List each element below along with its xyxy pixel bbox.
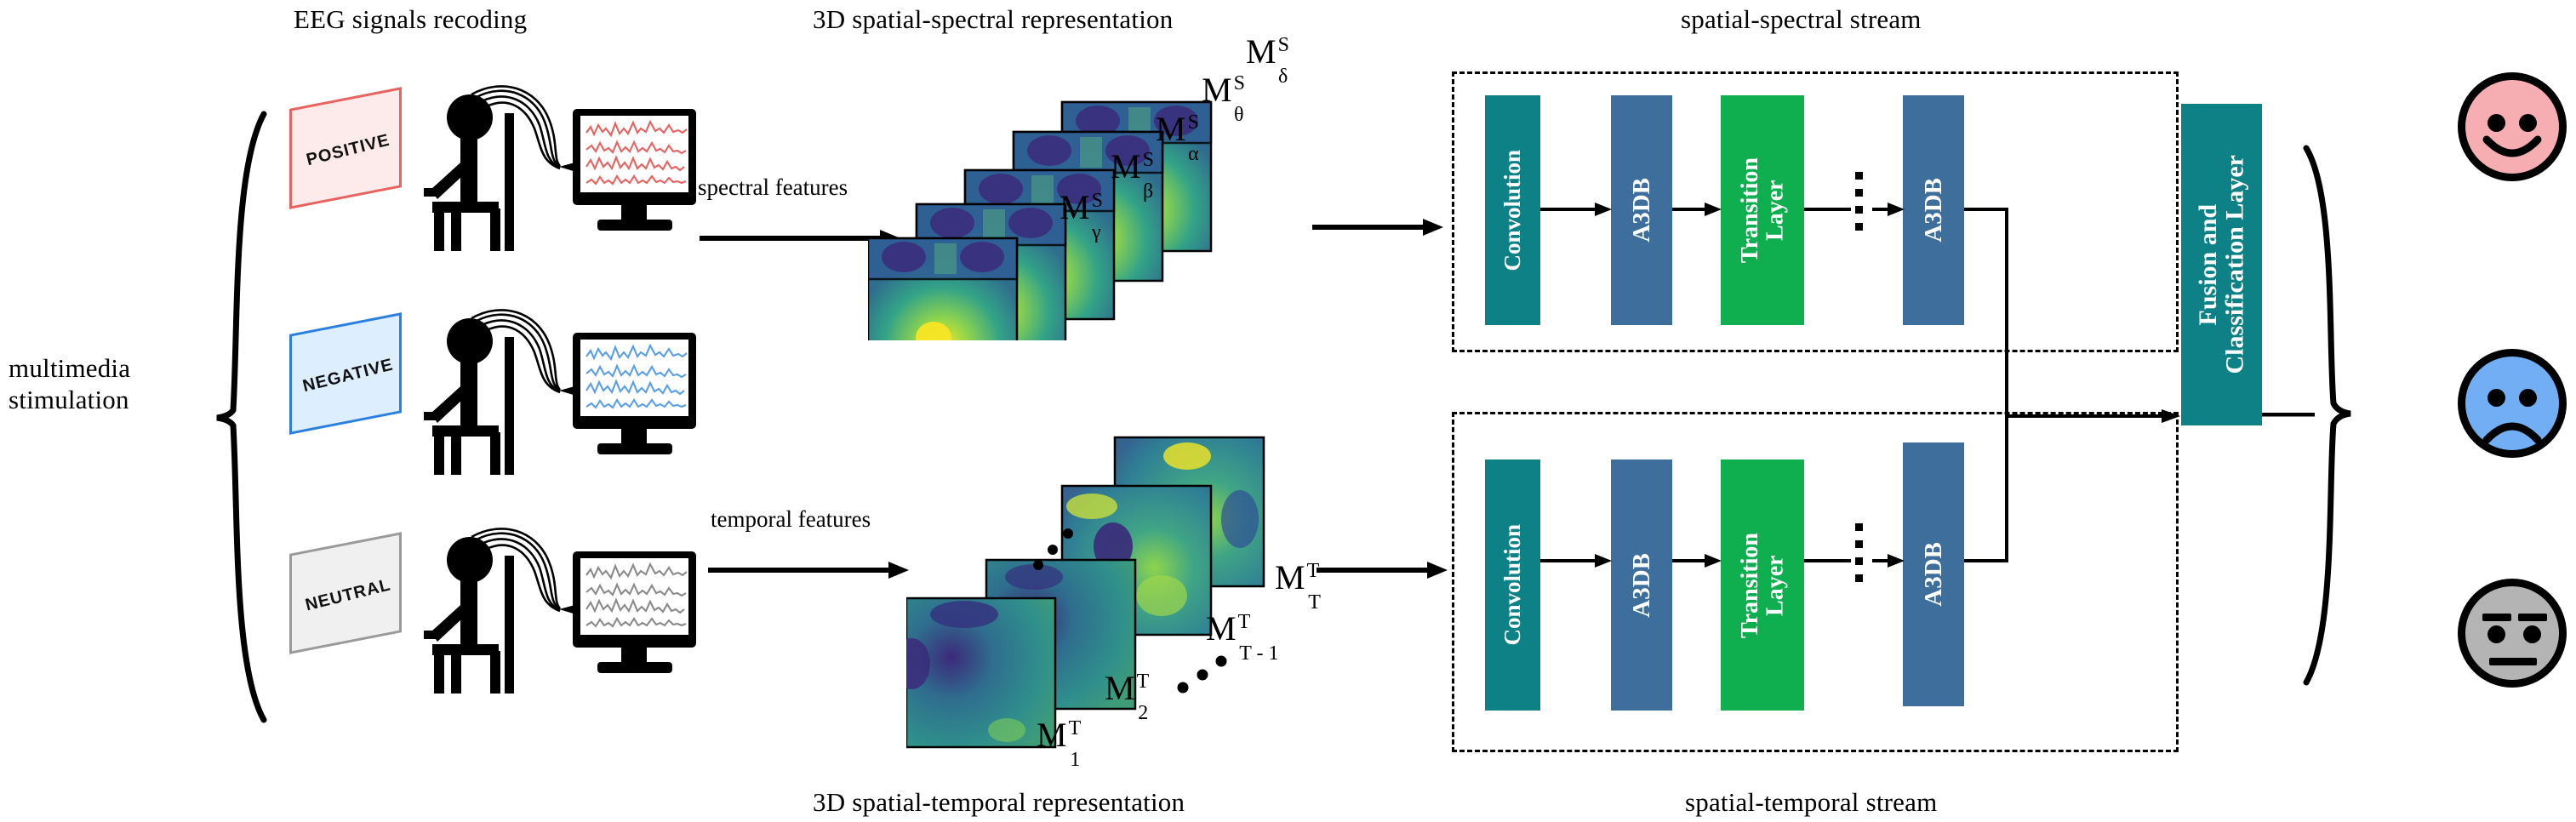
label-sub: T - 1 [1239,642,1278,665]
label-base: M [1202,71,1232,109]
temporal-map-label-2: MT2 [1105,668,1148,713]
label-sub: δ [1278,66,1288,88]
line-transition-to-dots-temporal [1804,559,1851,563]
arrow-dots-to-a3db-spectral [1872,200,1905,219]
block-transition-layer-spectral[interactable]: Transition Layer [1721,95,1804,325]
neutral-face-eye-left [2487,625,2505,643]
multimedia-stimulation-line2: stimulation [9,385,129,415]
block-convolution-spectral[interactable]: Convolution [1485,95,1540,325]
eeg-subject-monitor-negative [417,305,698,475]
block-label: A3DB [1629,178,1654,243]
label-sub: γ [1092,221,1101,244]
label-base: M [1111,147,1141,186]
happy-face-eye-left [2487,114,2505,132]
multimedia-stimulation-line1: multimedia [9,353,130,384]
temporal-map-label-T: MTT [1275,557,1321,602]
happy-face-mouth [2482,133,2544,167]
label-sub: α [1188,143,1199,166]
heading-temporal-representation: 3D spatial-temporal representation [813,787,1185,818]
eeg-subject-monitor-positive [417,81,698,251]
spectral-map-label-beta: MSβ [1111,146,1153,191]
ellipsis-dots-temporal [1855,523,1863,591]
sad-face-eye-left [2487,389,2505,407]
label-base: M [1206,609,1237,648]
spectral-map-label-alpha: MSα [1156,109,1199,154]
happy-face-eye-right [2519,114,2537,132]
block-a3db-temporal-2[interactable]: A3DB [1903,442,1964,706]
label-sub: 1 [1070,749,1080,772]
label-sup: S [1234,72,1245,94]
block-fusion-classification-layer[interactable]: Fusion and Classification Layer [2181,104,2262,425]
left-brace [213,111,272,723]
temporal-stream-arrow [1315,560,1451,580]
block-a3db-spectral-1[interactable]: A3DB [1611,95,1672,325]
sad-face-eye-right [2519,389,2537,407]
label-sup: S [1188,111,1199,134]
neutral-face-eye-right [2523,625,2541,643]
stimulus-card-negative-label: NEGATIVE [282,313,415,437]
label-sub: β [1143,180,1153,203]
spectral-features-label: spectral features [698,174,848,201]
arrow-dots-to-a3db-temporal [1872,551,1905,570]
label-sub: T [1308,591,1321,614]
label-sub: θ [1234,104,1244,127]
ellipsis-dots-spectral [1855,172,1863,240]
stimulus-card-neutral[interactable]: NEUTRAL [289,532,402,654]
block-a3db-spectral-2[interactable]: A3DB [1903,95,1964,325]
temporal-map-ellipsis [1174,647,1242,698]
label-sup: T [1238,611,1251,633]
eeg-subject-monitor-neutral [417,523,698,694]
stream-fusion-connectors [1957,200,2187,574]
temporal-map-label-T-minus-1: MTT - 1 [1206,608,1278,654]
spectral-map-label-gamma: MSγ [1060,187,1101,232]
stimulus-card-positive[interactable]: POSITIVE [289,87,402,209]
block-convolution-temporal[interactable]: Convolution [1485,460,1540,711]
label-base: M [1156,110,1186,148]
heading-spectral-representation: 3D spatial-spectral representation [813,4,1173,35]
happy-face [2458,72,2567,181]
label-sup: S [1092,190,1103,212]
arrow-a3db-to-transition-spectral [1672,200,1722,219]
block-label: Transition Layer [1738,533,1788,638]
line-transition-to-dots-spectral [1804,208,1851,212]
block-transition-layer-temporal[interactable]: Transition Layer [1721,460,1804,711]
stimulus-card-neutral-label: NEUTRAL [282,533,415,657]
label-sup: T [1137,671,1150,693]
heading-spectral-stream: spatial-spectral stream [1681,4,1922,35]
block-label: A3DB [1921,178,1946,243]
label-base: M [1060,188,1090,226]
arrow-conv-to-a3db-spectral [1540,200,1613,219]
label-sup: S [1143,149,1154,171]
heading-temporal-stream: spatial-temporal stream [1685,787,1937,818]
label-sup: S [1278,34,1289,56]
block-label: Transition Layer [1738,157,1788,263]
block-a3db-temporal-1[interactable]: A3DB [1611,460,1672,711]
neutral-face-brow-right [2518,614,2547,621]
sad-face [2458,349,2567,458]
label-base: M [1037,716,1067,754]
label-base: M [1275,558,1305,597]
temporal-features-arrow [706,560,911,580]
spectral-map-label-delta: MSδ [1246,31,1288,77]
temporal-map-label-1: MT1 [1037,715,1080,760]
stimulus-card-negative[interactable]: NEGATIVE [289,312,402,435]
block-label: Convolution [1500,524,1524,646]
stimulus-card-positive-label: POSITIVE [282,88,415,212]
block-label: A3DB [1921,542,1946,607]
block-label: Fusion and Classification Layer [2195,155,2248,374]
neutral-face-mouth [2489,658,2537,665]
block-label: Convolution [1500,150,1524,271]
block-label: A3DB [1629,553,1654,618]
temporal-features-label: temporal features [711,506,871,533]
spectral-stream-arrow [1311,217,1447,237]
neutral-face [2458,579,2567,688]
label-sup: T [1069,717,1082,739]
arrow-conv-to-a3db-temporal [1540,551,1613,570]
neutral-face-brow-left [2482,614,2511,621]
label-base: M [1105,669,1135,707]
label-base: M [1246,32,1277,71]
label-sub: 2 [1138,702,1148,725]
heading-eeg-signals: EEG signals recoding [294,4,527,35]
sad-face-mouth [2482,416,2544,450]
spectral-map-label-theta: MSθ [1202,70,1243,115]
arrow-a3db-to-transition-temporal [1672,551,1722,570]
output-brace [2298,145,2357,689]
